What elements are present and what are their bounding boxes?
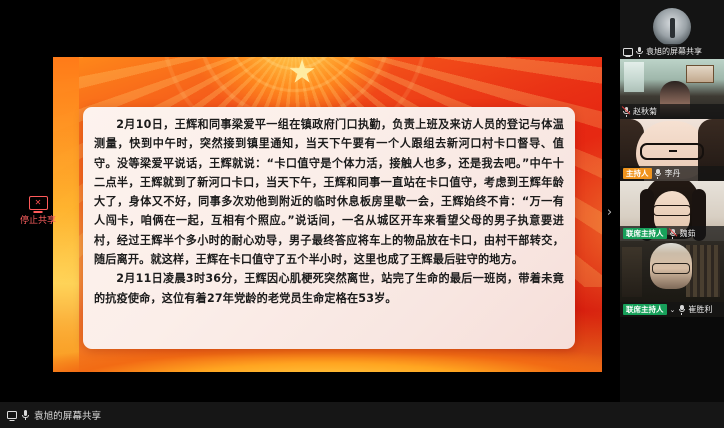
tile-label-bar: 联席主持人 ⌄ 崔胜利 (620, 302, 724, 317)
avatar (653, 8, 691, 46)
slide-text-card: 2月10日，王辉和同事梁爱平一组在镇政府门口执勤，负责上班及来访人员的登记与体温… (83, 107, 575, 349)
mic-icon (655, 169, 662, 179)
participant-name: 魏茹 (680, 228, 696, 239)
participant-tile-host[interactable]: 主持人 李丹 (620, 119, 724, 181)
chevron-down-icon[interactable]: ⌄ (670, 306, 676, 314)
tile-label-bar: 赵秋菊 (620, 104, 724, 119)
cohost-badge: 联席主持人 (623, 304, 667, 315)
screen-share-icon (623, 48, 633, 56)
participant-tile-cohost-2[interactable]: 联席主持人 ⌄ 崔胜利 (620, 241, 724, 317)
presentation-slide: 2月10日，王辉和同事梁爱平一组在镇政府门口执勤，负责上班及来访人员的登记与体温… (53, 57, 602, 372)
mic-icon (678, 305, 685, 315)
host-badge: 主持人 (623, 168, 652, 179)
screen-stop-icon: ✕ (29, 196, 48, 210)
cohost-badge: 联席主持人 (623, 228, 667, 239)
participant-tile-screen-share[interactable]: 袁旭的屏幕共享 (620, 0, 724, 59)
mic-muted-icon (623, 107, 630, 117)
panel-toggle-glyph: › (607, 205, 612, 220)
mic-muted-icon (670, 229, 677, 239)
tile-label-bar: 主持人 李丹 (620, 166, 724, 181)
shared-screen-stage: 2月10日，王辉和同事梁爱平一组在镇政府门口执勤，负责上班及来访人员的登记与体温… (0, 0, 612, 402)
video-frame (653, 205, 691, 216)
mic-icon (636, 47, 643, 57)
participant-tile-cohost-1[interactable]: 联席主持人 魏茹 (620, 181, 724, 241)
participant-tile-2[interactable]: 赵秋菊 (620, 59, 724, 119)
participant-name: 李丹 (665, 168, 681, 179)
video-frame (652, 263, 690, 274)
stop-share-label: 停止共享 (20, 213, 56, 226)
slide-paragraph-1: 2月10日，王辉和同事梁爱平一组在镇政府门口执勤，负责上班及来访人员的登记与体温… (94, 115, 564, 269)
screen-share-icon (7, 411, 17, 419)
slide-paragraph-2: 2月11日凌晨3时36分，王辉因心肌梗死突然离世，站完了生命的最后一班岗，带着未… (94, 269, 564, 308)
bottom-status-bar: 袁旭的屏幕共享 (0, 402, 724, 428)
stop-share-button[interactable]: ✕ 停止共享 (12, 189, 64, 233)
video-frame (622, 247, 642, 297)
tile-label-bar: 袁旭的屏幕共享 (620, 44, 724, 59)
mic-icon (22, 410, 29, 420)
participant-name: 袁旭的屏幕共享 (646, 46, 702, 57)
participant-name: 赵秋菊 (633, 106, 657, 117)
participant-filmstrip[interactable]: 袁旭的屏幕共享 赵秋菊 主持人 李丹 (620, 0, 724, 402)
chevron-right-icon[interactable]: › (603, 199, 612, 225)
close-icon: ✕ (35, 199, 42, 207)
zoom-screen-share-window: 2月10日，王辉和同事梁爱平一组在镇政府门口执勤，负责上班及来访人员的登记与体温… (0, 0, 724, 428)
video-frame (640, 143, 704, 160)
tile-label-bar: 联席主持人 魏茹 (620, 226, 724, 241)
bottom-bar-label: 袁旭的屏幕共享 (34, 408, 101, 422)
participant-name: 崔胜利 (688, 304, 712, 315)
